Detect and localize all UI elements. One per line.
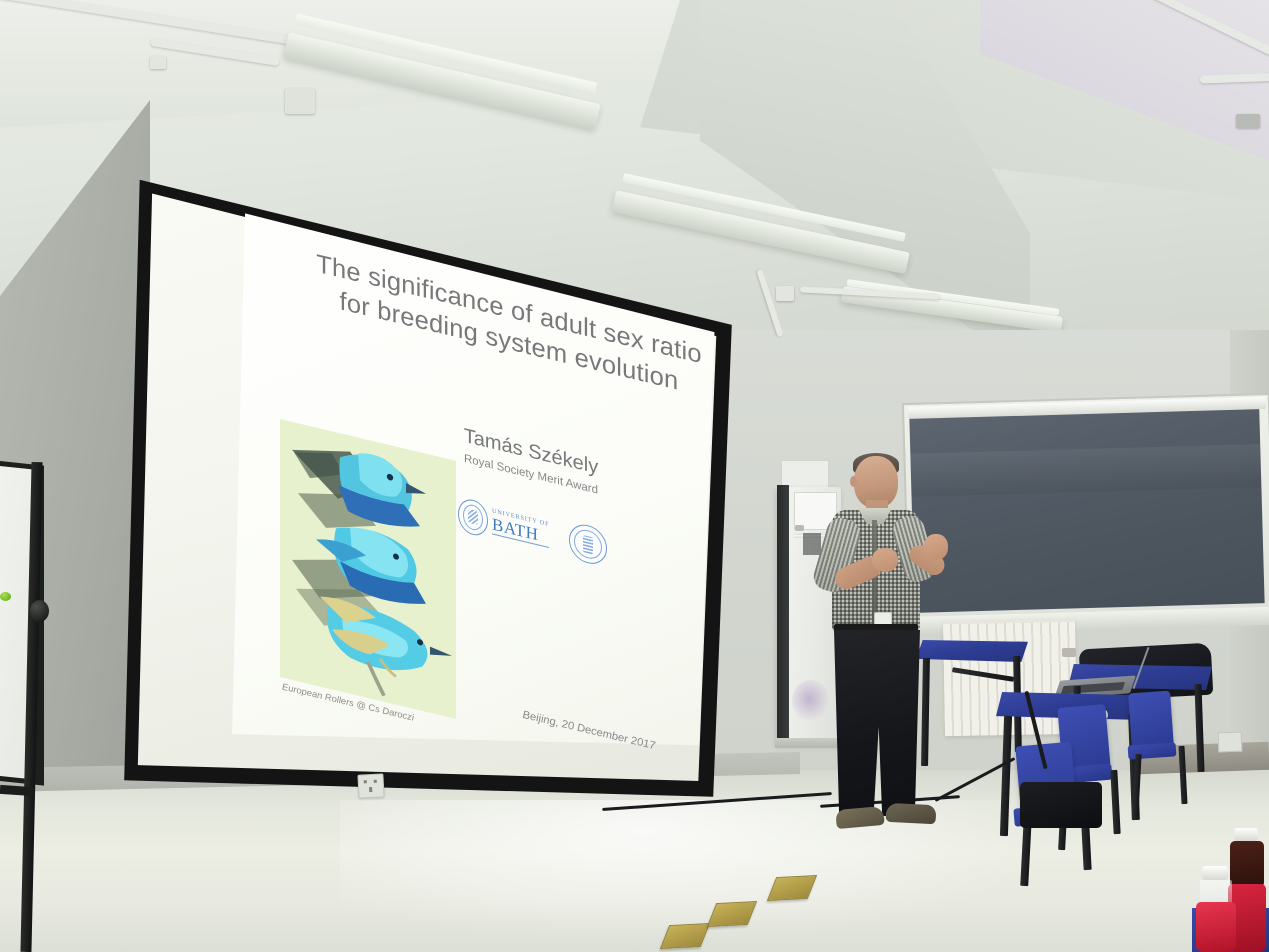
slide-date-location: Beijing, 20 December 2017	[474, 697, 704, 764]
whiteboard-magnet[interactable]	[0, 592, 11, 601]
air-conditioner-knob[interactable]	[795, 525, 804, 531]
socket-hole	[374, 780, 377, 783]
presenter	[812, 452, 962, 842]
conduit-junction-box	[285, 88, 315, 114]
slide-content-layer: The significance of adult sex ratio for …	[118, 150, 738, 810]
backpack[interactable]	[1020, 782, 1102, 828]
presenter-right-shoe	[886, 803, 937, 825]
radiator-valve[interactable]	[1062, 648, 1076, 657]
slide-title: The significance of adult sex ratio for …	[314, 247, 704, 404]
whiteboard-adjust-knob[interactable]	[30, 600, 49, 622]
floor-reflection	[340, 800, 1100, 952]
presenter-left-hand	[872, 548, 898, 572]
wall-power-socket[interactable]	[1218, 732, 1243, 753]
european-rollers-photo	[280, 419, 456, 719]
presenter-ear	[850, 476, 857, 487]
bath-logo: UNIVERSITY OF BATH	[458, 496, 549, 553]
bath-logo-text: UNIVERSITY OF BATH	[492, 509, 549, 548]
window-roller-blind[interactable]	[909, 409, 1264, 613]
conduit-junction-box	[1236, 114, 1260, 128]
presenter-right-hand	[924, 534, 948, 560]
bottle-label	[1196, 902, 1236, 952]
bnu-logo-icon	[569, 521, 607, 568]
presenter-trousers	[834, 630, 920, 816]
bottle-cap	[1202, 866, 1228, 880]
lecture-room-photo: The significance of adult sex ratio for …	[0, 0, 1269, 952]
bath-crest-icon	[458, 496, 488, 538]
presenter-left-shoe	[835, 806, 884, 829]
wall-power-socket[interactable]	[357, 773, 384, 798]
air-conditioner-side-panel	[777, 485, 789, 747]
conduit-junction-box	[150, 56, 166, 69]
bottle-cap	[1234, 828, 1258, 841]
wall-junction-box	[776, 286, 794, 301]
juice-bottle[interactable]	[1196, 866, 1236, 952]
chair[interactable]	[1128, 691, 1174, 750]
socket-hole	[369, 787, 372, 792]
socket-hole	[364, 780, 367, 783]
rollers-illustration	[280, 419, 456, 719]
